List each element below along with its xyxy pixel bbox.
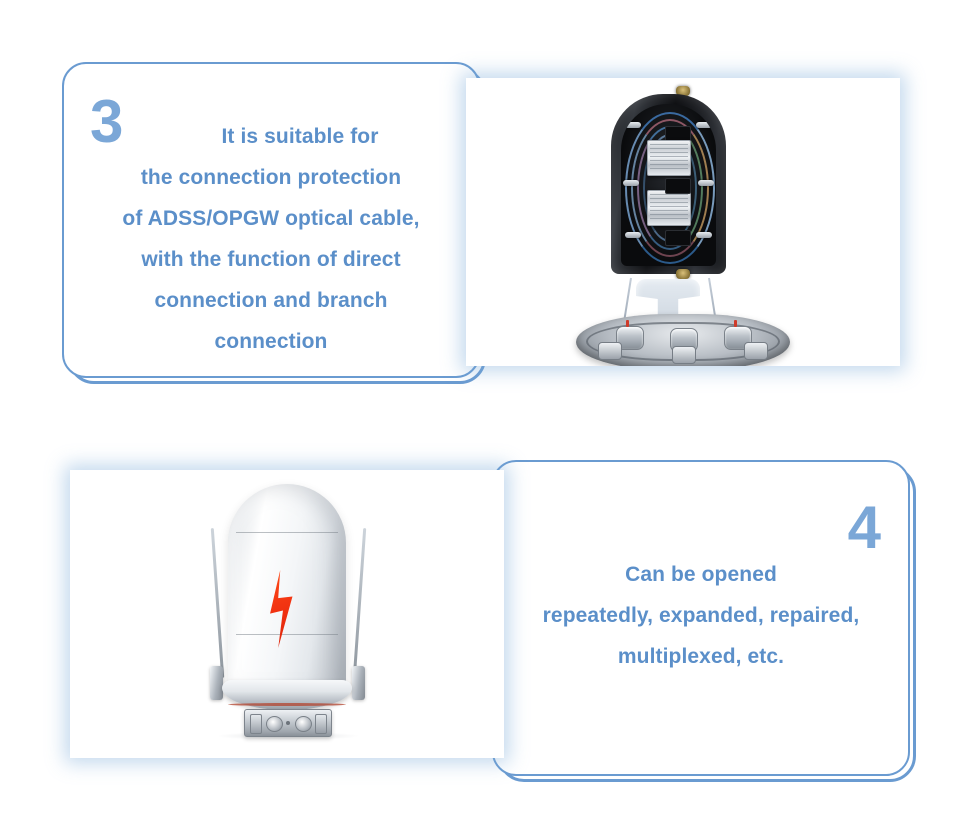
tray-clip-br: [696, 232, 712, 238]
feature-3-line-1: It is suitable for: [62, 116, 480, 157]
clamp-rod-left: [211, 528, 224, 678]
clamp-block-right: [352, 666, 365, 700]
splice-module-stripes: [650, 144, 688, 172]
feature-4-line-2: repeatedly, expanded, repaired,: [492, 595, 910, 636]
base-nut-right: [744, 342, 768, 360]
feature-4-text-lines: Can be opened repeatedly, expanded, repa…: [492, 554, 910, 677]
entry-port-2: [295, 716, 312, 732]
dome-closure-assembly: [172, 484, 402, 734]
feature-3-text-card: 3 It is suitable for the connection prot…: [62, 62, 486, 384]
dome-shell: [228, 484, 346, 696]
tray-body: [611, 94, 726, 274]
aluminum-base-plate: [576, 314, 790, 366]
base-nut-left: [598, 342, 622, 360]
dome-seam-lower: [236, 634, 338, 635]
tray-block-bottom: [665, 230, 691, 246]
feature-3-line-3: of ADSS/OPGW optical cable,: [62, 198, 480, 239]
dome-closure-photo: [70, 470, 504, 758]
tray-block-mid: [665, 178, 691, 194]
feature-3-line-2: the connection protection: [62, 157, 480, 198]
entry-box-tab-right: [315, 714, 327, 734]
feature-4-image-panel: [70, 470, 504, 758]
feature-4-line-1: Can be opened: [492, 554, 910, 595]
clamp-block-left: [210, 666, 223, 700]
tray-bottom-screw-icon: [676, 269, 690, 279]
feature-block-3: 3 It is suitable for the connection prot…: [0, 0, 960, 410]
dome-ground-shadow: [218, 732, 358, 740]
feature-4-text-card: 4 Can be opened repeatedly, expanded, re…: [492, 460, 916, 782]
splice-module-upper: [647, 140, 691, 176]
feature-3-image-panel: [466, 78, 900, 366]
tray-clip-tr: [696, 122, 712, 128]
entry-box-tab-left: [250, 714, 262, 734]
clamp-rod-right: [353, 528, 366, 678]
tray-clip-bl: [625, 232, 641, 238]
base-red-marker-right: [734, 320, 737, 327]
feature-3-text-lines: It is suitable for the connection protec…: [62, 116, 480, 362]
dome-seal-line: [228, 703, 346, 706]
feature-4-number: 4: [848, 498, 880, 558]
base-red-marker-left: [626, 320, 629, 327]
feature-3-line-4: with the function of direct: [62, 239, 480, 280]
entry-port-1: [266, 716, 283, 732]
entry-box-screw-icon: [286, 721, 290, 725]
splice-module-stripes: [650, 194, 688, 222]
dome-seam-upper: [236, 532, 338, 533]
base-nut-mid: [672, 346, 696, 364]
tray-clip-mr: [698, 180, 714, 186]
tray-clip-tl: [625, 122, 641, 128]
tray-clip-ml: [623, 180, 639, 186]
feature-3-line-6: connection: [62, 321, 480, 362]
card-content: 4 Can be opened repeatedly, expanded, re…: [492, 460, 910, 776]
tray-inner-cavity: [621, 104, 716, 266]
feature-4-line-3: multiplexed, etc.: [492, 636, 910, 677]
splice-module-lower: [647, 190, 691, 226]
feature-3-line-5: connection and branch: [62, 280, 480, 321]
splice-tray-assembly: [558, 86, 808, 366]
feature-block-4: 4 Can be opened repeatedly, expanded, re…: [0, 410, 960, 820]
card-content: 3 It is suitable for the connection prot…: [62, 62, 480, 378]
splice-closure-tray-photo: [466, 78, 900, 366]
